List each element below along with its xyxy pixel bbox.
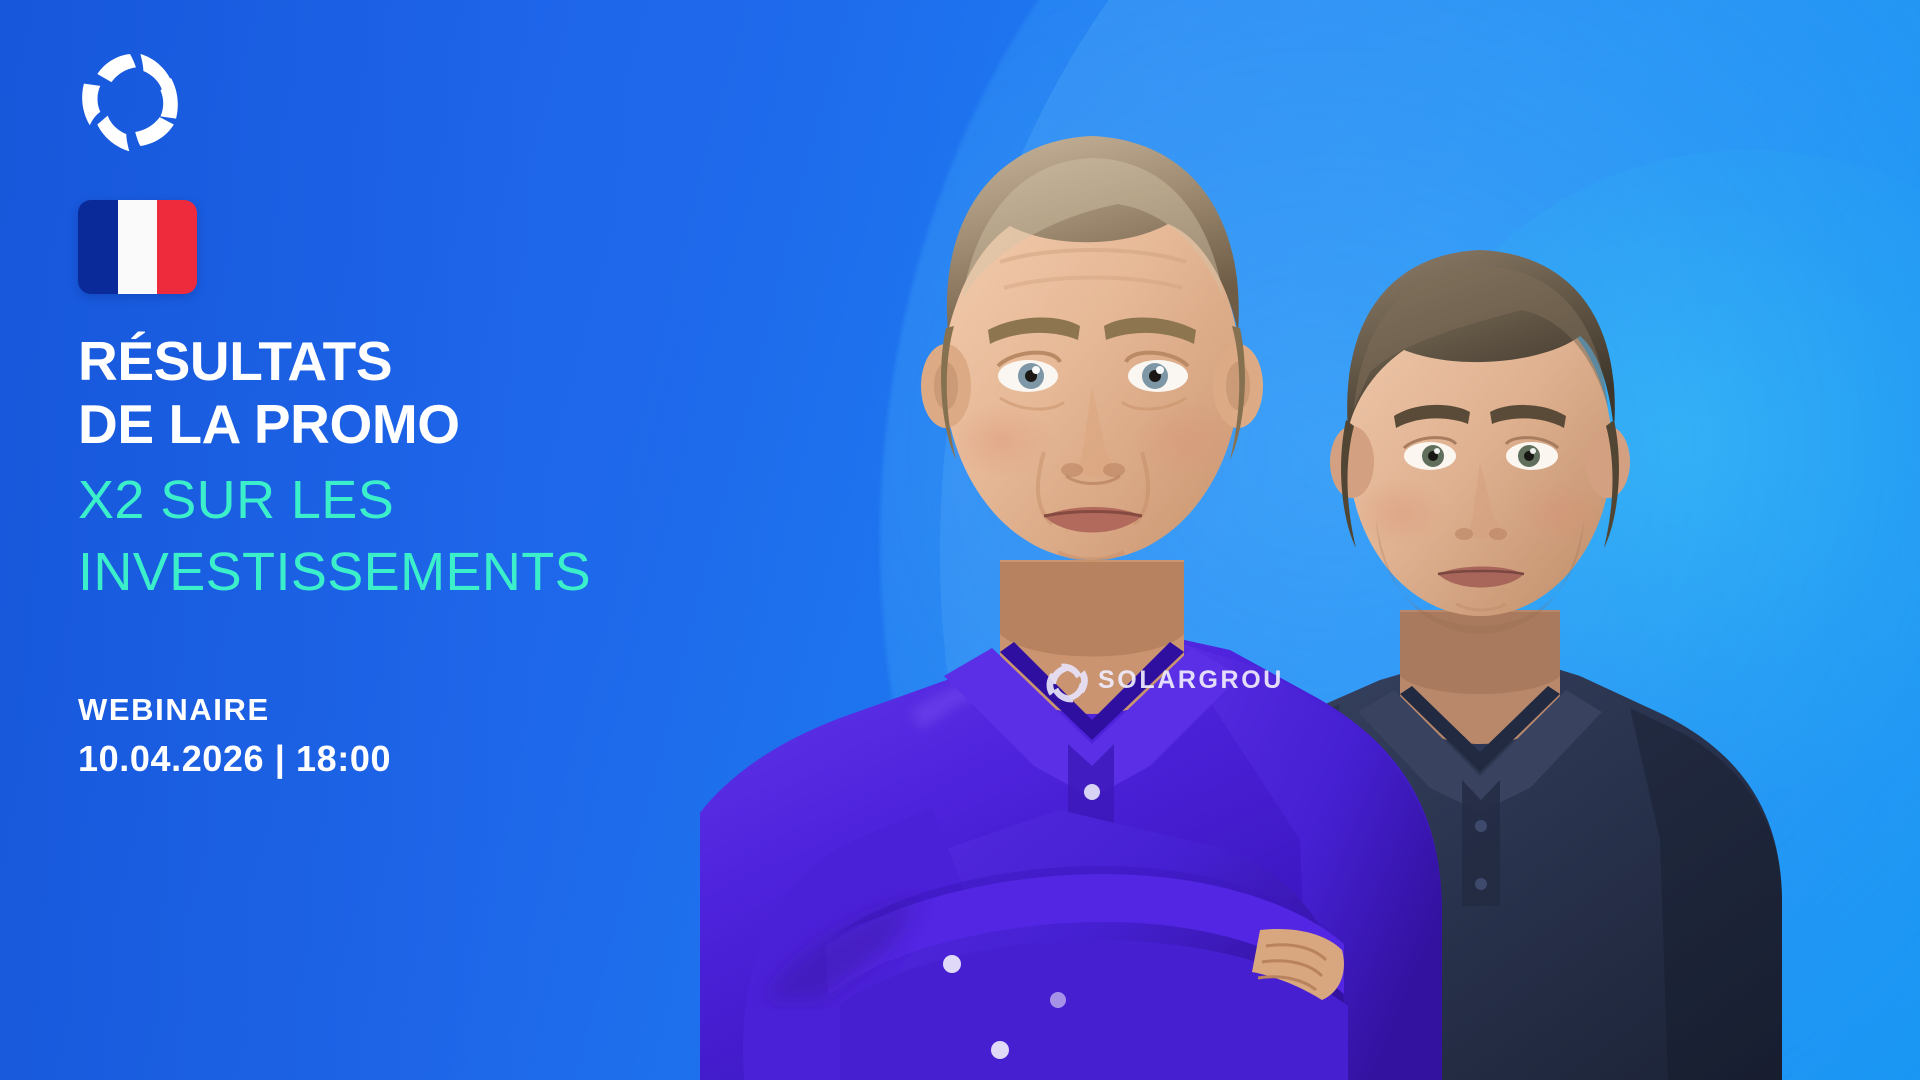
presenters-photo: SOLARGROU bbox=[700, 0, 1920, 1080]
banner-content: RÉSULTATS DE LA PROMO X2 SUR LES INVESTI… bbox=[78, 0, 838, 1080]
headline-line-1: RÉSULTATS bbox=[78, 330, 838, 393]
solargroup-logo-icon bbox=[78, 48, 182, 152]
headline-line-3: X2 SUR LES bbox=[78, 456, 838, 536]
webinar-label: WEBINAIRE bbox=[78, 690, 778, 730]
webinar-info: WEBINAIRE 10.04.2026 | 18:00 bbox=[78, 690, 778, 784]
promo-banner: SOLARGROU bbox=[0, 0, 1920, 1080]
flag-band-white bbox=[118, 200, 158, 294]
svg-text:SOLARGROU: SOLARGROU bbox=[1098, 666, 1284, 694]
webinar-datetime: 10.04.2026 | 18:00 bbox=[78, 734, 778, 784]
flag-france-icon bbox=[78, 200, 197, 294]
headline-line-2: DE LA PROMO bbox=[78, 393, 838, 456]
headline-block: RÉSULTATS DE LA PROMO X2 SUR LES INVESTI… bbox=[78, 330, 838, 608]
flag-band-red bbox=[157, 200, 197, 294]
flag-band-blue bbox=[78, 200, 118, 294]
headline-line-4: INVESTISSEMENTS bbox=[78, 536, 838, 608]
